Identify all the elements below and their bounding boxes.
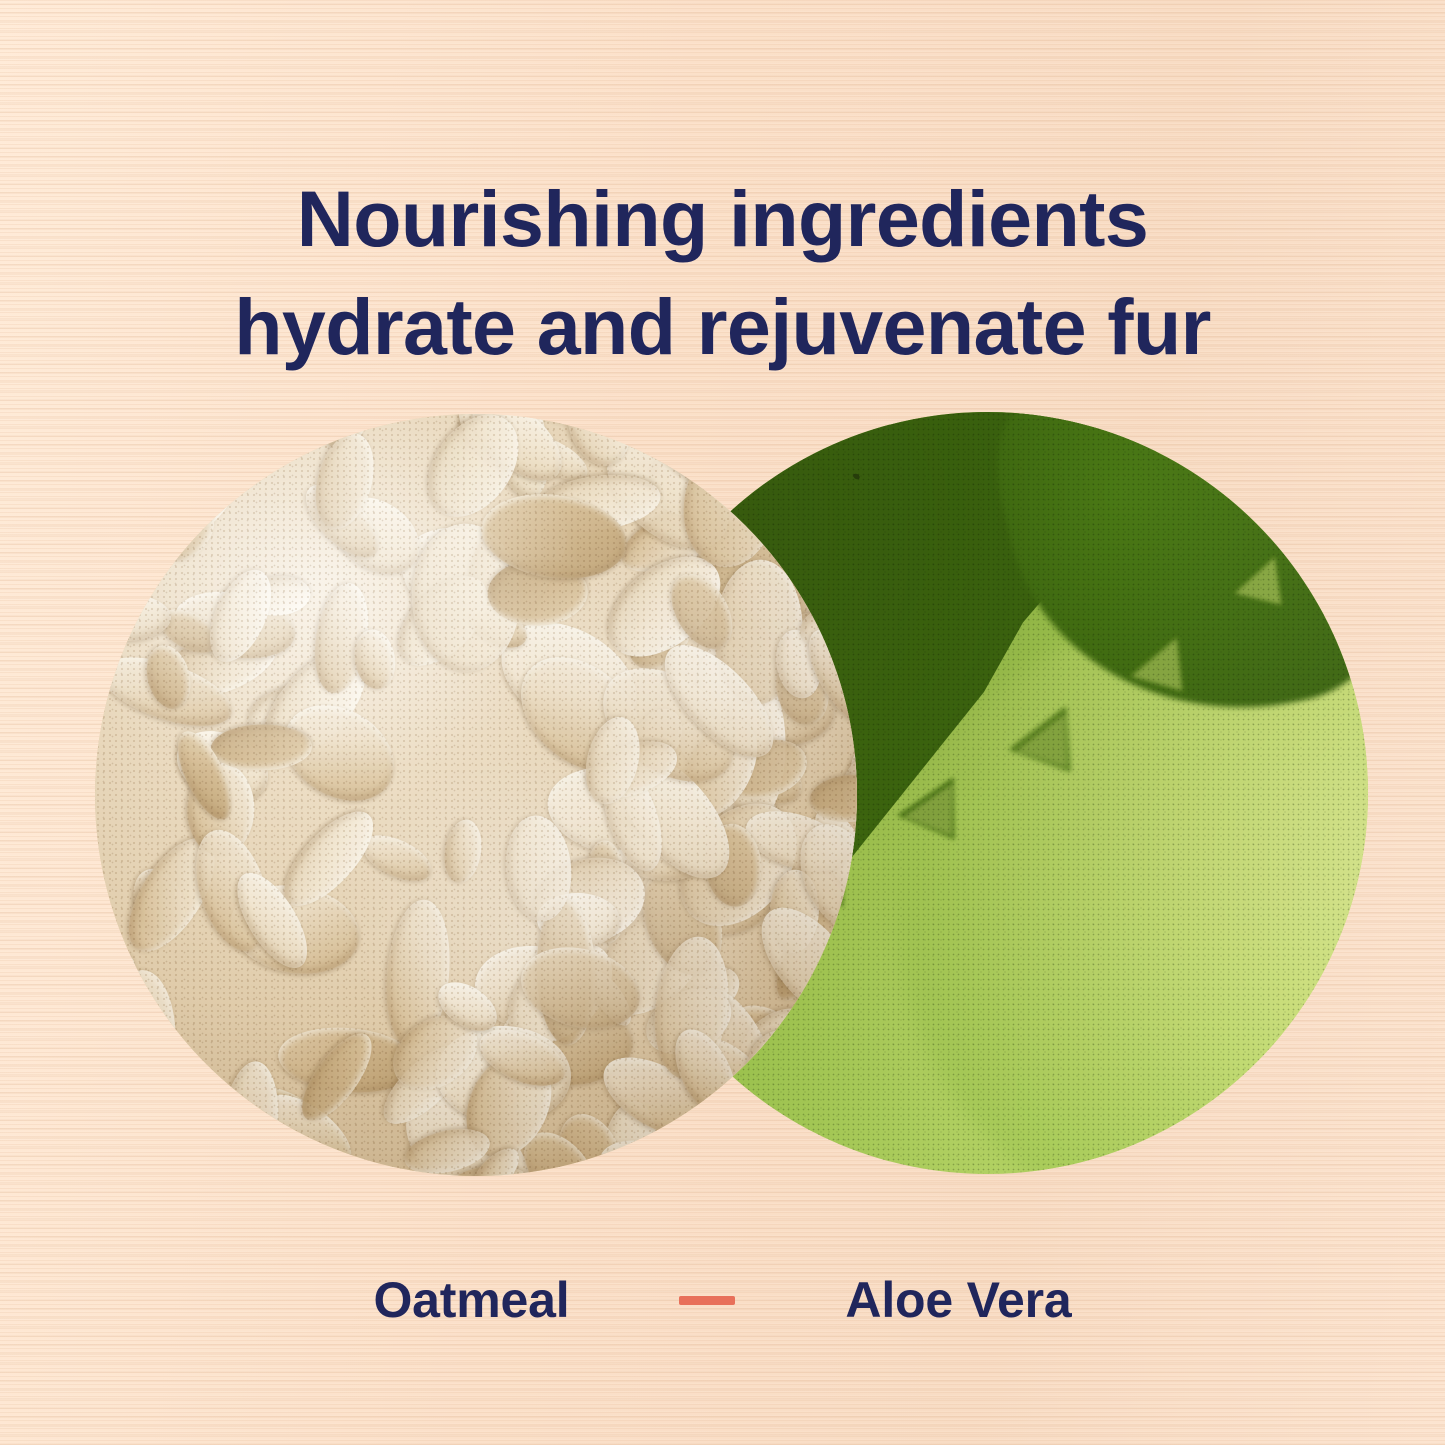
ingredient-labels: Oatmeal Aloe Vera — [0, 1272, 1445, 1328]
oatmeal-shading — [95, 414, 857, 1176]
ingredient-label-left: Oatmeal — [373, 1272, 569, 1328]
ingredient-infographic: Nourishing ingredients hydrate and rejuv… — [0, 0, 1445, 1445]
ingredient-label-right: Aloe Vera — [845, 1272, 1071, 1328]
ingredient-image-pair — [0, 0, 1445, 1445]
oatmeal-image — [95, 414, 857, 1176]
oatmeal-artwork — [95, 414, 857, 1176]
label-separator-dash — [679, 1296, 735, 1305]
